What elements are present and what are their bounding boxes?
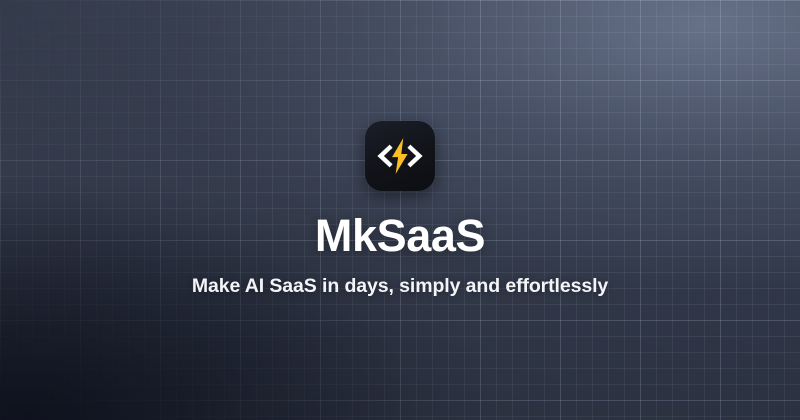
app-logo-badge <box>365 121 435 191</box>
brand-title: MkSaaS <box>315 213 485 260</box>
code-bolt-icon <box>374 136 426 176</box>
open-graph-card: MkSaaS Make AI SaaS in days, simply and … <box>0 0 800 420</box>
hero-content: MkSaaS Make AI SaaS in days, simply and … <box>0 0 800 420</box>
brand-subtitle: Make AI SaaS in days, simply and effortl… <box>192 274 608 298</box>
